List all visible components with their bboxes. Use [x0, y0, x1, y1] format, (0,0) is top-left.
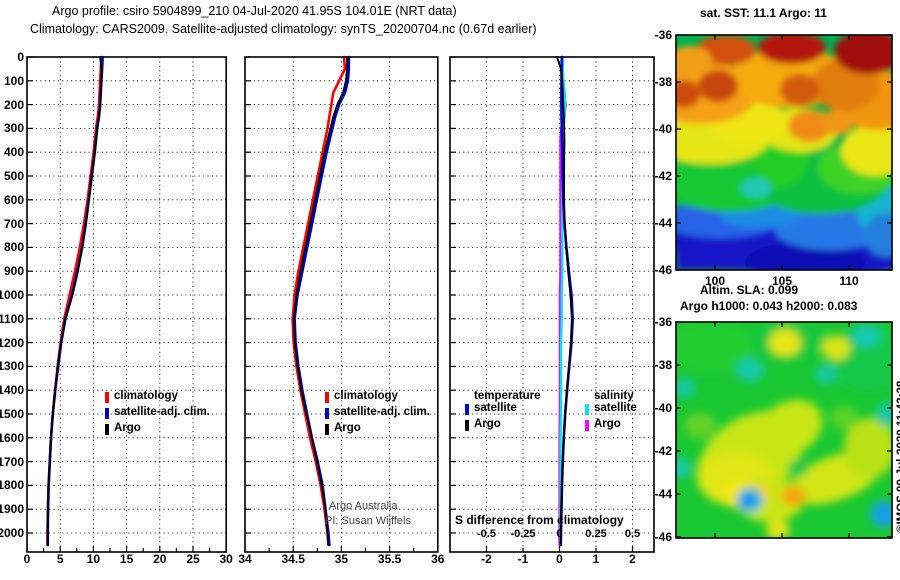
legend-swatch-temperature-argo [465, 420, 469, 431]
sla-map-panel [640, 318, 900, 543]
depth-axis-labels: 0 100 200 300 400 500 600 700 800 900 10… [0, 40, 27, 560]
legend-swatch-climatology [325, 392, 329, 403]
vertical-gridlines [245, 57, 438, 552]
sst-field [642, 30, 900, 280]
curve-satellite-adjusted [295, 57, 349, 545]
legend-swatch-argo [325, 424, 329, 435]
temperature-plot-svg [0, 40, 245, 560]
salinity-plot-svg [243, 40, 448, 560]
difference-top-axis-title: S difference from climatology [455, 513, 624, 527]
legend-swatch-salinity-satellite [585, 404, 589, 415]
difference-legend-salinity: salinity satellite Argo [585, 390, 634, 434]
legend-label-climatology: climatology [334, 390, 398, 402]
credit-pi: PI: Susan Wijffels [325, 515, 411, 527]
sst-map-lat-labels: -36 -38 -40 -42 -44 -46 [640, 30, 676, 280]
legend-swatch-salinity-argo [585, 420, 589, 431]
sst-map-title: sat. SST: 11.1 Argo: 11 [700, 6, 827, 20]
legend-swatch-satellite-adj [105, 408, 109, 419]
legend-swatch-temperature-satellite [465, 404, 469, 415]
sla-map-lat-labels: -36 -38 -40 -42 -44 -46 [640, 318, 676, 543]
legend-swatch-climatology [105, 392, 109, 403]
difference-plot-svg [449, 40, 664, 560]
legend-label-salinity-satellite: satellite [594, 402, 637, 414]
page-title-line2: Climatology: CARS2009. Satellite-adjuste… [30, 22, 537, 36]
sst-map-svg [640, 30, 900, 280]
legend-label-argo: Argo [334, 422, 361, 434]
legend-label-temperature-argo: Argo [474, 418, 501, 430]
legend-label-satellite-adj: satellite-adj. clim. [114, 406, 210, 418]
argo-steric-height-label: Argo h1000: 0.043 h2000: 0.083 [680, 299, 857, 313]
legend-swatch-argo [105, 424, 109, 435]
legend-group-title-temperature: temperature [474, 390, 540, 402]
horizontal-gridlines [450, 57, 654, 533]
curve-satellite-adjusted [48, 57, 103, 545]
credit-organisation: Argo Australia [329, 500, 397, 512]
temperature-profile-panel [0, 40, 245, 560]
y-axis-ticks [27, 57, 33, 533]
vertical-gridlines [450, 57, 654, 552]
y-axis-ticks [245, 57, 251, 533]
difference-profile-panel [449, 40, 664, 560]
salinity-profile-panel [243, 40, 448, 560]
sla-field [664, 318, 900, 540]
legend-label-climatology: climatology [114, 390, 178, 402]
legend-swatch-satellite-adj [325, 408, 329, 419]
altimetry-sla-label: Altim. SLA: 0.099 [700, 283, 798, 297]
legend-label-argo: Argo [114, 422, 141, 434]
page-title-line1: Argo profile: csiro 5904899_210 04-Jul-2… [52, 4, 457, 18]
legend-group-title-salinity: salinity [594, 390, 634, 402]
y-axis-ticks [450, 57, 456, 533]
legend-label-temperature-satellite: satellite [474, 402, 517, 414]
sst-map-panel [640, 30, 900, 280]
vertical-gridlines [27, 57, 226, 552]
sla-map-svg [640, 318, 900, 543]
imos-timestamp: ©IMOS 09-Jul-2020 11:43:38 [896, 533, 900, 545]
difference-legend-temperature: temperature satellite Argo [465, 390, 540, 434]
legend-label-satellite-adj: satellite-adj. clim. [334, 406, 430, 418]
legend-label-salinity-argo: Argo [594, 418, 621, 430]
